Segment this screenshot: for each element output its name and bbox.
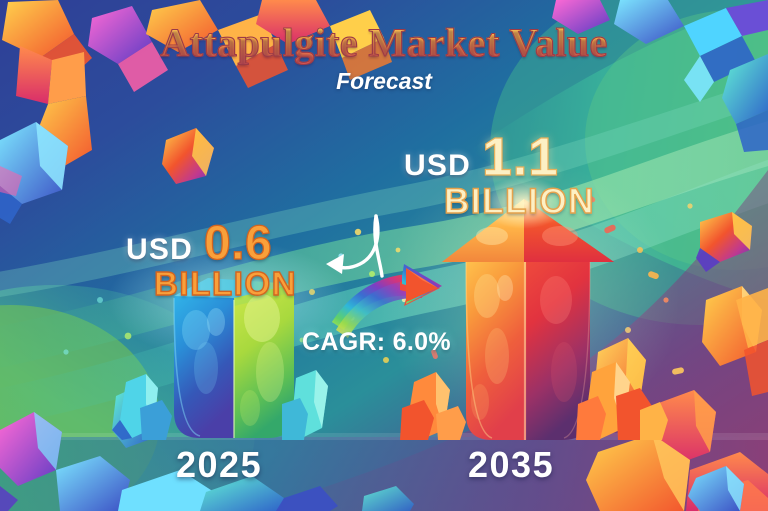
currency-label-2025: USD xyxy=(126,233,193,267)
infographic-canvas: Attapulgite Market Value Forecast USD 0.… xyxy=(0,0,768,511)
page-title: Attapulgite Market Value xyxy=(0,22,768,64)
growth-arrow-icon xyxy=(332,264,442,338)
value-label-2035: USD 1.1 BILLION xyxy=(404,126,595,222)
value-unit-2025: BILLION xyxy=(126,265,297,303)
value-number-2035: 1.1 xyxy=(482,126,559,188)
value-number-2025: 0.6 xyxy=(204,216,272,271)
callout-arrowhead-icon xyxy=(326,254,344,274)
year-label-2025: 2025 xyxy=(176,444,262,486)
value-unit-2035: BILLION xyxy=(404,182,595,222)
value-label-2025: USD 0.6 BILLION xyxy=(126,216,297,303)
currency-label-2035: USD xyxy=(404,149,471,183)
page-subtitle: Forecast xyxy=(0,68,768,95)
title-block: Attapulgite Market Value Forecast xyxy=(0,22,768,95)
cagr-label: CAGR: 6.0% xyxy=(302,328,451,357)
year-label-2035: 2035 xyxy=(468,444,554,486)
